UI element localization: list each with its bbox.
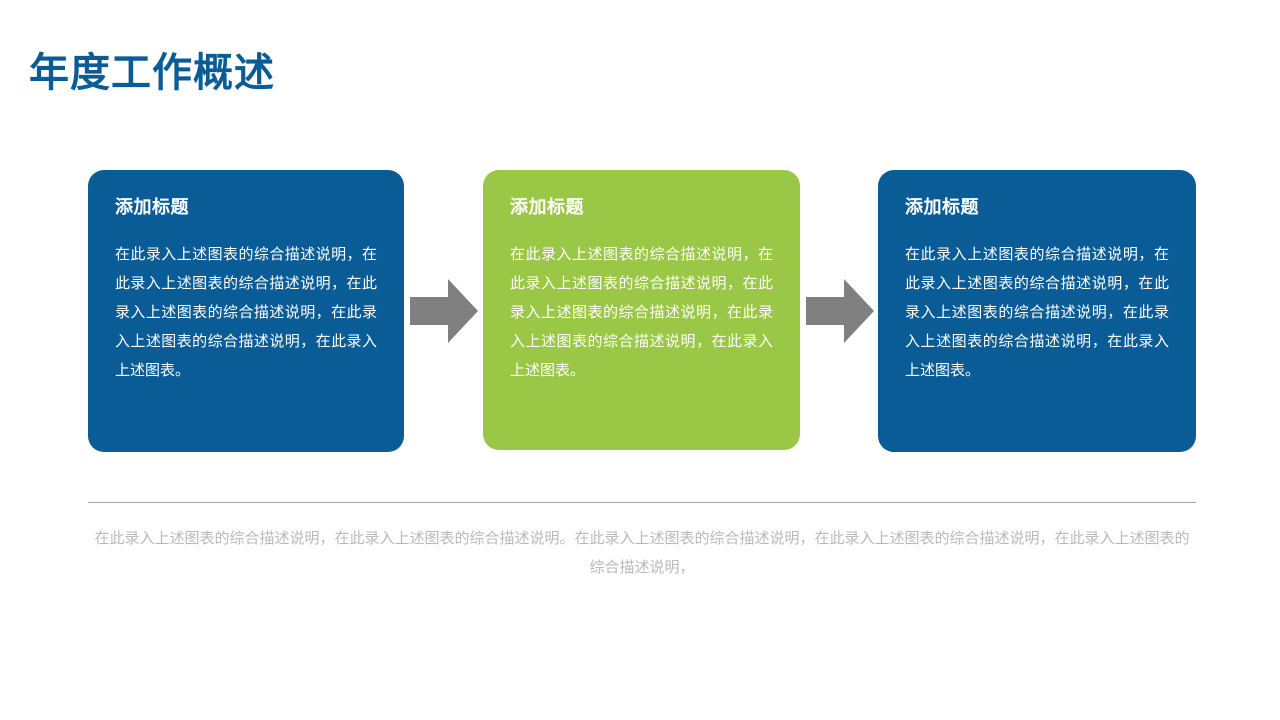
arrow-right-icon [408,275,480,347]
flow-card-3[interactable]: 添加标题 在此录入上述图表的综合描述说明，在此录入上述图表的综合描述说明，在此录… [878,170,1196,452]
divider [88,502,1196,503]
slide-canvas: 年度工作概述 添加标题 在此录入上述图表的综合描述说明，在此录入上述图表的综合描… [0,0,1280,720]
flow-card-2[interactable]: 添加标题 在此录入上述图表的综合描述说明，在此录入上述图表的综合描述说明，在此录… [483,170,800,450]
flow-card-2-body: 在此录入上述图表的综合描述说明，在此录入上述图表的综合描述说明，在此录入上述图表… [510,240,773,385]
flow-card-3-body: 在此录入上述图表的综合描述说明，在此录入上述图表的综合描述说明，在此录入上述图表… [905,240,1169,385]
arrow-right-icon [804,275,876,347]
process-flow: 添加标题 在此录入上述图表的综合描述说明，在此录入上述图表的综合描述说明，在此录… [88,170,1196,452]
footer-caption: 在此录入上述图表的综合描述说明，在此录入上述图表的综合描述说明。在此录入上述图表… [88,524,1196,582]
flow-card-2-title: 添加标题 [510,196,773,218]
flow-card-1-title: 添加标题 [115,196,377,218]
flow-card-3-title: 添加标题 [905,196,1169,218]
page-title: 年度工作概述 [29,49,275,97]
flow-card-1-body: 在此录入上述图表的综合描述说明，在此录入上述图表的综合描述说明，在此录入上述图表… [115,240,377,385]
flow-card-1[interactable]: 添加标题 在此录入上述图表的综合描述说明，在此录入上述图表的综合描述说明，在此录… [88,170,404,452]
